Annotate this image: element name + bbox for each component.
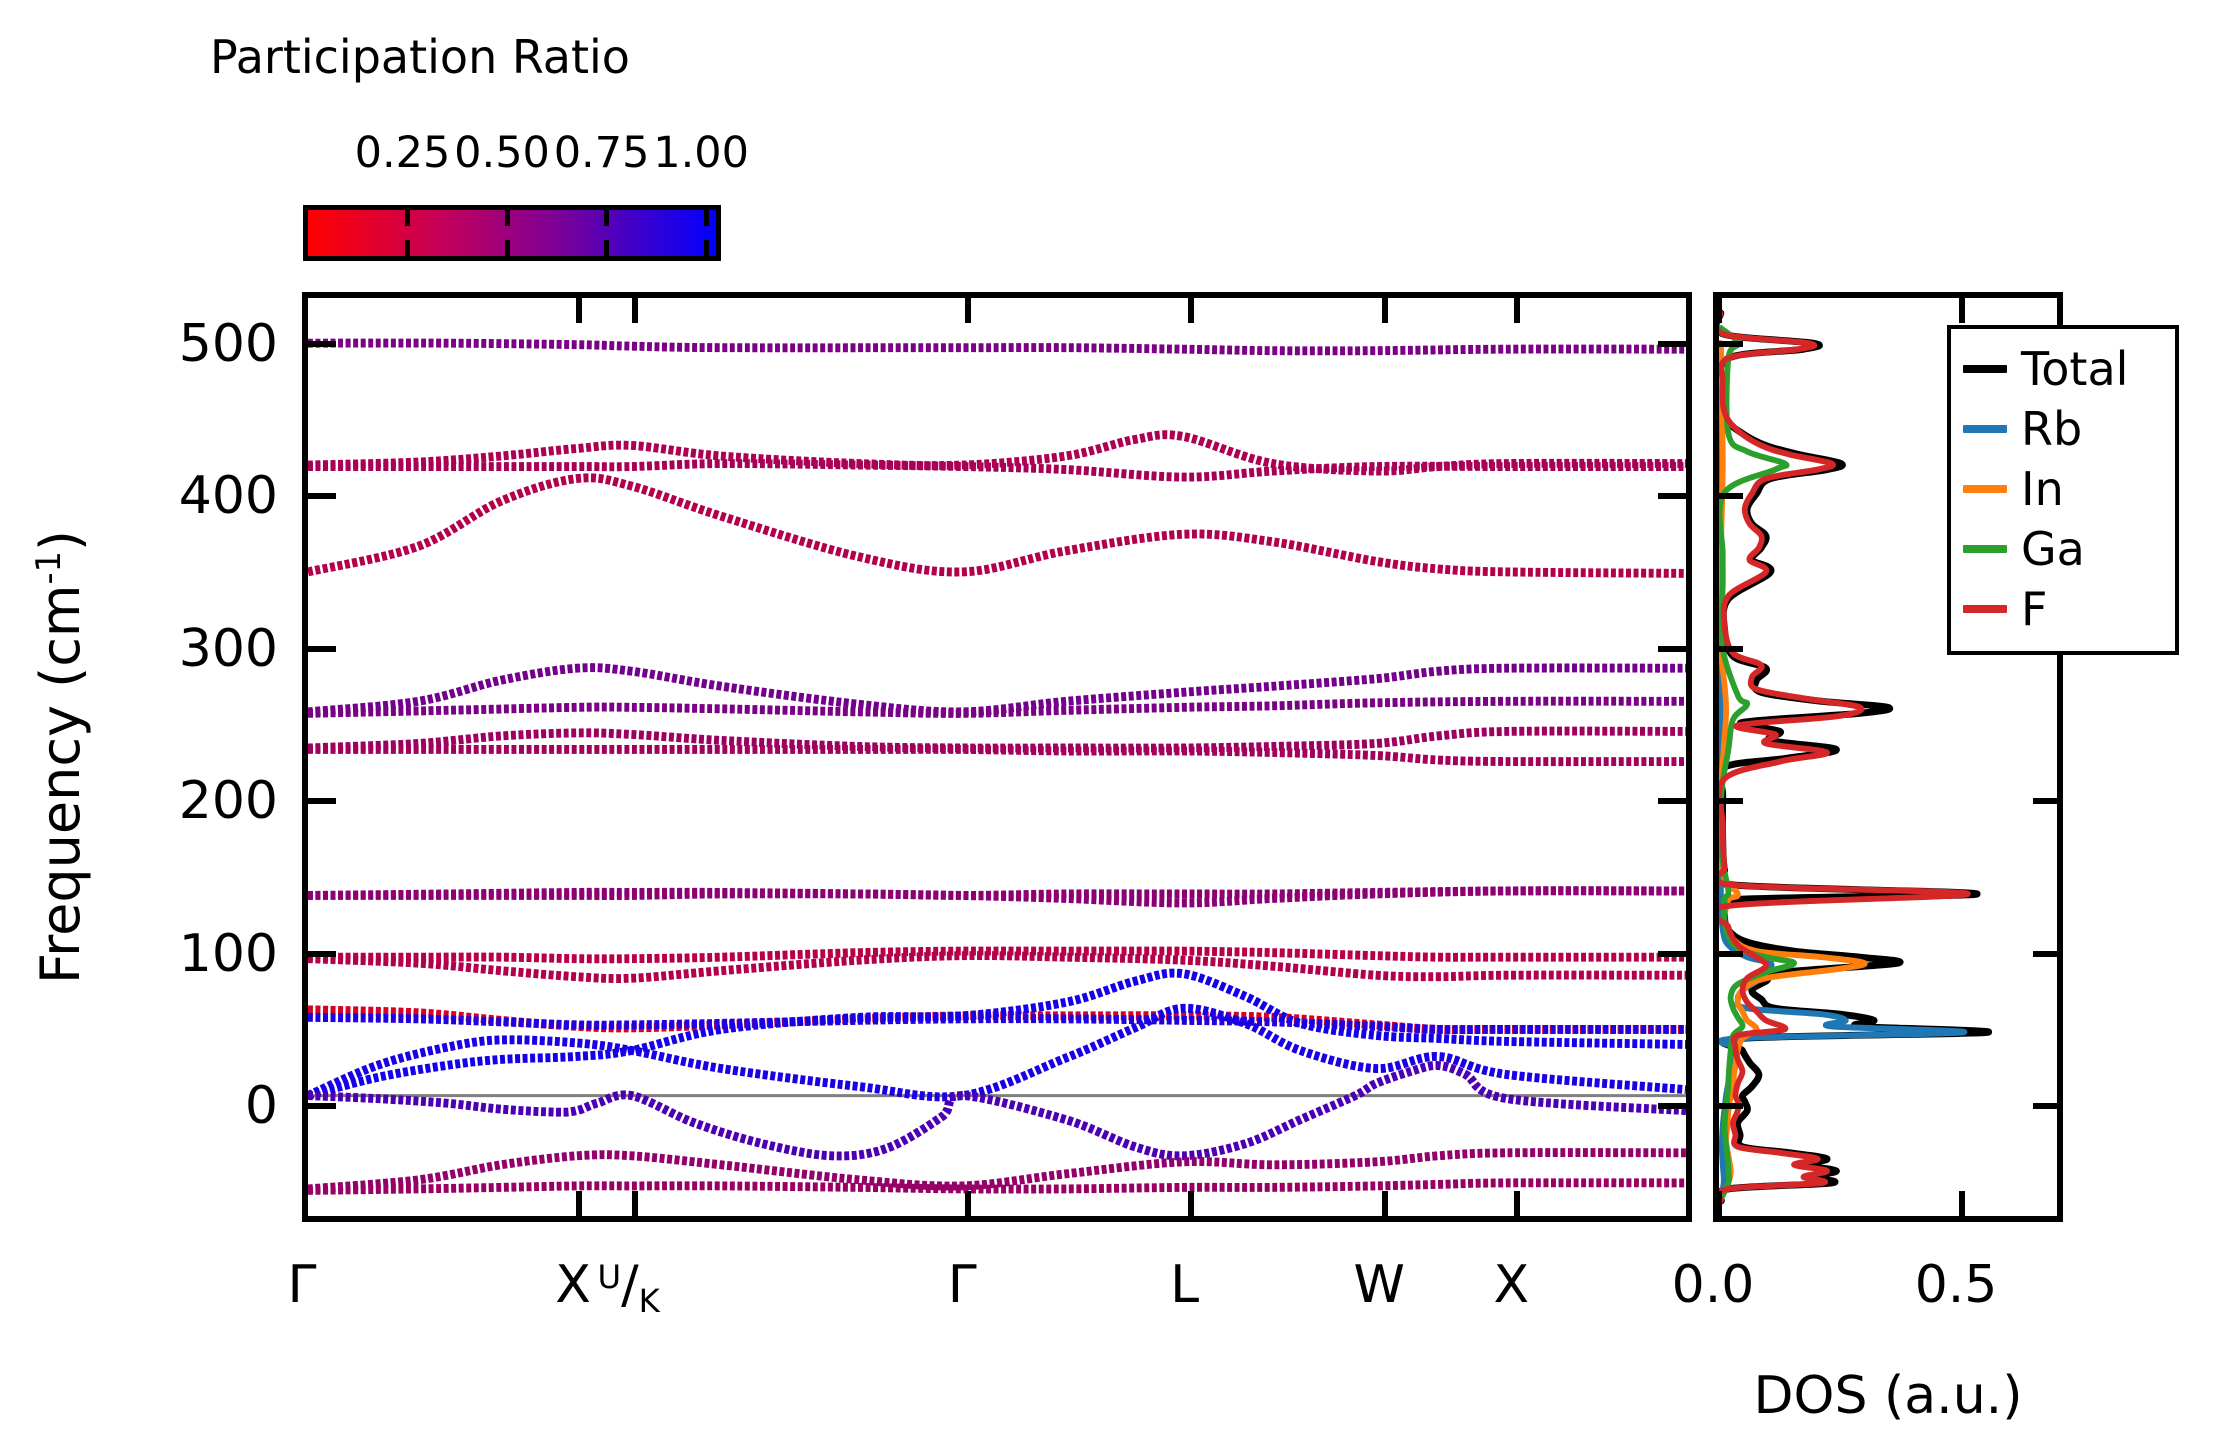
y-axis-tick-label: 400 [179,466,278,526]
legend-label: In [2021,466,2064,512]
colorbar [303,205,721,261]
band-curve [308,1183,1686,1191]
dos-x-axis-tick [1716,297,1722,323]
legend-item: Total [1951,339,2175,399]
band-curve [308,343,1686,351]
y-axis-tick-label: 0 [245,1076,278,1136]
x-axis-tick [576,1191,582,1217]
x-axis-tick-label: Γ [288,1255,317,1315]
y-axis-tick-label: 200 [179,771,278,831]
dos-x-axis-tick-label: 0.5 [1915,1255,1998,1315]
x-axis-tick [632,297,638,323]
y-axis-tick [306,1103,336,1109]
x-axis-tick-label: U/K [598,1255,660,1315]
y-axis-tick [306,493,336,499]
legend-item: In [1951,459,2175,519]
colorbar-tick-mark [405,240,410,256]
x-axis-tick-label: W [1354,1255,1405,1315]
band-curve [308,1017,1686,1029]
y-axis-tick-right [1658,646,1688,652]
legend-label: Ga [2021,526,2085,572]
colorbar-tick-mark [505,240,510,256]
y-axis-tick [306,646,336,652]
colorbar-tick-label: 0.50 [454,128,550,178]
dos-x-axis-tick-label: 0.0 [1672,1255,1755,1315]
band-structure-panel: 0100200300400500 [302,292,1692,1222]
y-axis-tick-right [1658,798,1688,804]
dos-y-axis-tick [1717,1103,1743,1109]
x-axis-tick [576,297,582,323]
band-structure-plot [308,298,1686,1216]
y-axis-tick-right [1658,493,1688,499]
legend-color-swatch [1963,545,2007,553]
x-axis-tick [1188,1191,1194,1217]
dos-x-axis-tick [1716,1191,1722,1217]
legend-item: Rb [1951,399,2175,459]
colorbar-tick-mark [704,240,709,256]
dos-y-axis-tick [1717,646,1743,652]
band-curve [308,1065,1686,1156]
colorbar-tick-mark [505,210,510,226]
dos-x-axis-tick [1959,297,1965,323]
legend-label: F [2021,586,2047,632]
y-axis-tick-label: 300 [179,619,278,679]
dos-y-axis-tick-right [2033,1103,2059,1109]
legend-item: F [1951,579,2175,639]
y-axis-tick-right [1658,951,1688,957]
dos-axis-title: DOS (a.u.) [1754,1370,2023,1422]
x-axis-tick-label: X [1493,1255,1529,1315]
band-curve [308,891,1686,896]
band-curve [308,464,1686,478]
x-axis-tick [1382,1191,1388,1217]
legend-label: Rb [2021,406,2082,452]
x-axis-tick [965,1191,971,1217]
dos-y-axis-tick [1717,951,1743,957]
dos-x-axis-tick [1959,1191,1965,1217]
colorbar-tick-labels: 0.250.500.751.00 [303,128,721,178]
x-axis-tick [1514,1191,1520,1217]
colorbar-tick-mark [604,240,609,256]
x-axis-tick [632,1191,638,1217]
band-curve [308,478,1686,574]
y-axis-tick-right [1658,341,1688,347]
colorbar-tick-label: 1.00 [653,128,749,178]
colorbar-tick-label: 0.75 [554,128,650,178]
dos-y-axis-tick [1717,798,1743,804]
x-axis-tick [1514,297,1520,323]
y-axis-tick [306,951,336,957]
dos-y-axis-tick-right [2033,798,2059,804]
colorbar-tick-mark [704,210,709,226]
band-curve [308,749,1686,761]
legend-item: Ga [1951,519,2175,579]
y-axis-tick-right [1658,1103,1688,1109]
x-axis-tick-label: Γ [948,1255,977,1315]
band-curve [308,973,1686,1096]
x-axis-tick-label: L [1170,1255,1199,1315]
y-axis-tick-label: 500 [179,314,278,374]
x-axis-tick-label: X [555,1255,591,1315]
colorbar-tick-mark [604,210,609,226]
colorbar-title: Participation Ratio [210,34,630,80]
legend-label: Total [2021,346,2128,392]
dos-legend: TotalRbInGaF [1947,325,2179,655]
legend-color-swatch [1963,365,2007,373]
colorbar-tick-mark [405,210,410,226]
dos-y-axis-tick-right [2033,951,2059,957]
dos-y-axis-tick [1717,493,1743,499]
legend-color-swatch [1963,485,2007,493]
y-axis-tick-label: 100 [179,924,278,984]
x-axis-tick [965,297,971,323]
x-axis-tick [1188,297,1194,323]
figure-root: Participation Ratio 0.250.500.751.00 010… [0,0,2222,1455]
colorbar-tick-label: 0.25 [355,128,451,178]
x-axis-tick [1382,297,1388,323]
colorbar-gradient [308,210,716,256]
y-axis-tick [306,798,336,804]
legend-color-swatch [1963,605,2007,613]
y-axis-tick [306,341,336,347]
y-axis-title: Frequency (cm-1) [32,530,88,984]
dos-y-axis-tick [1717,341,1743,347]
legend-color-swatch [1963,425,2007,433]
